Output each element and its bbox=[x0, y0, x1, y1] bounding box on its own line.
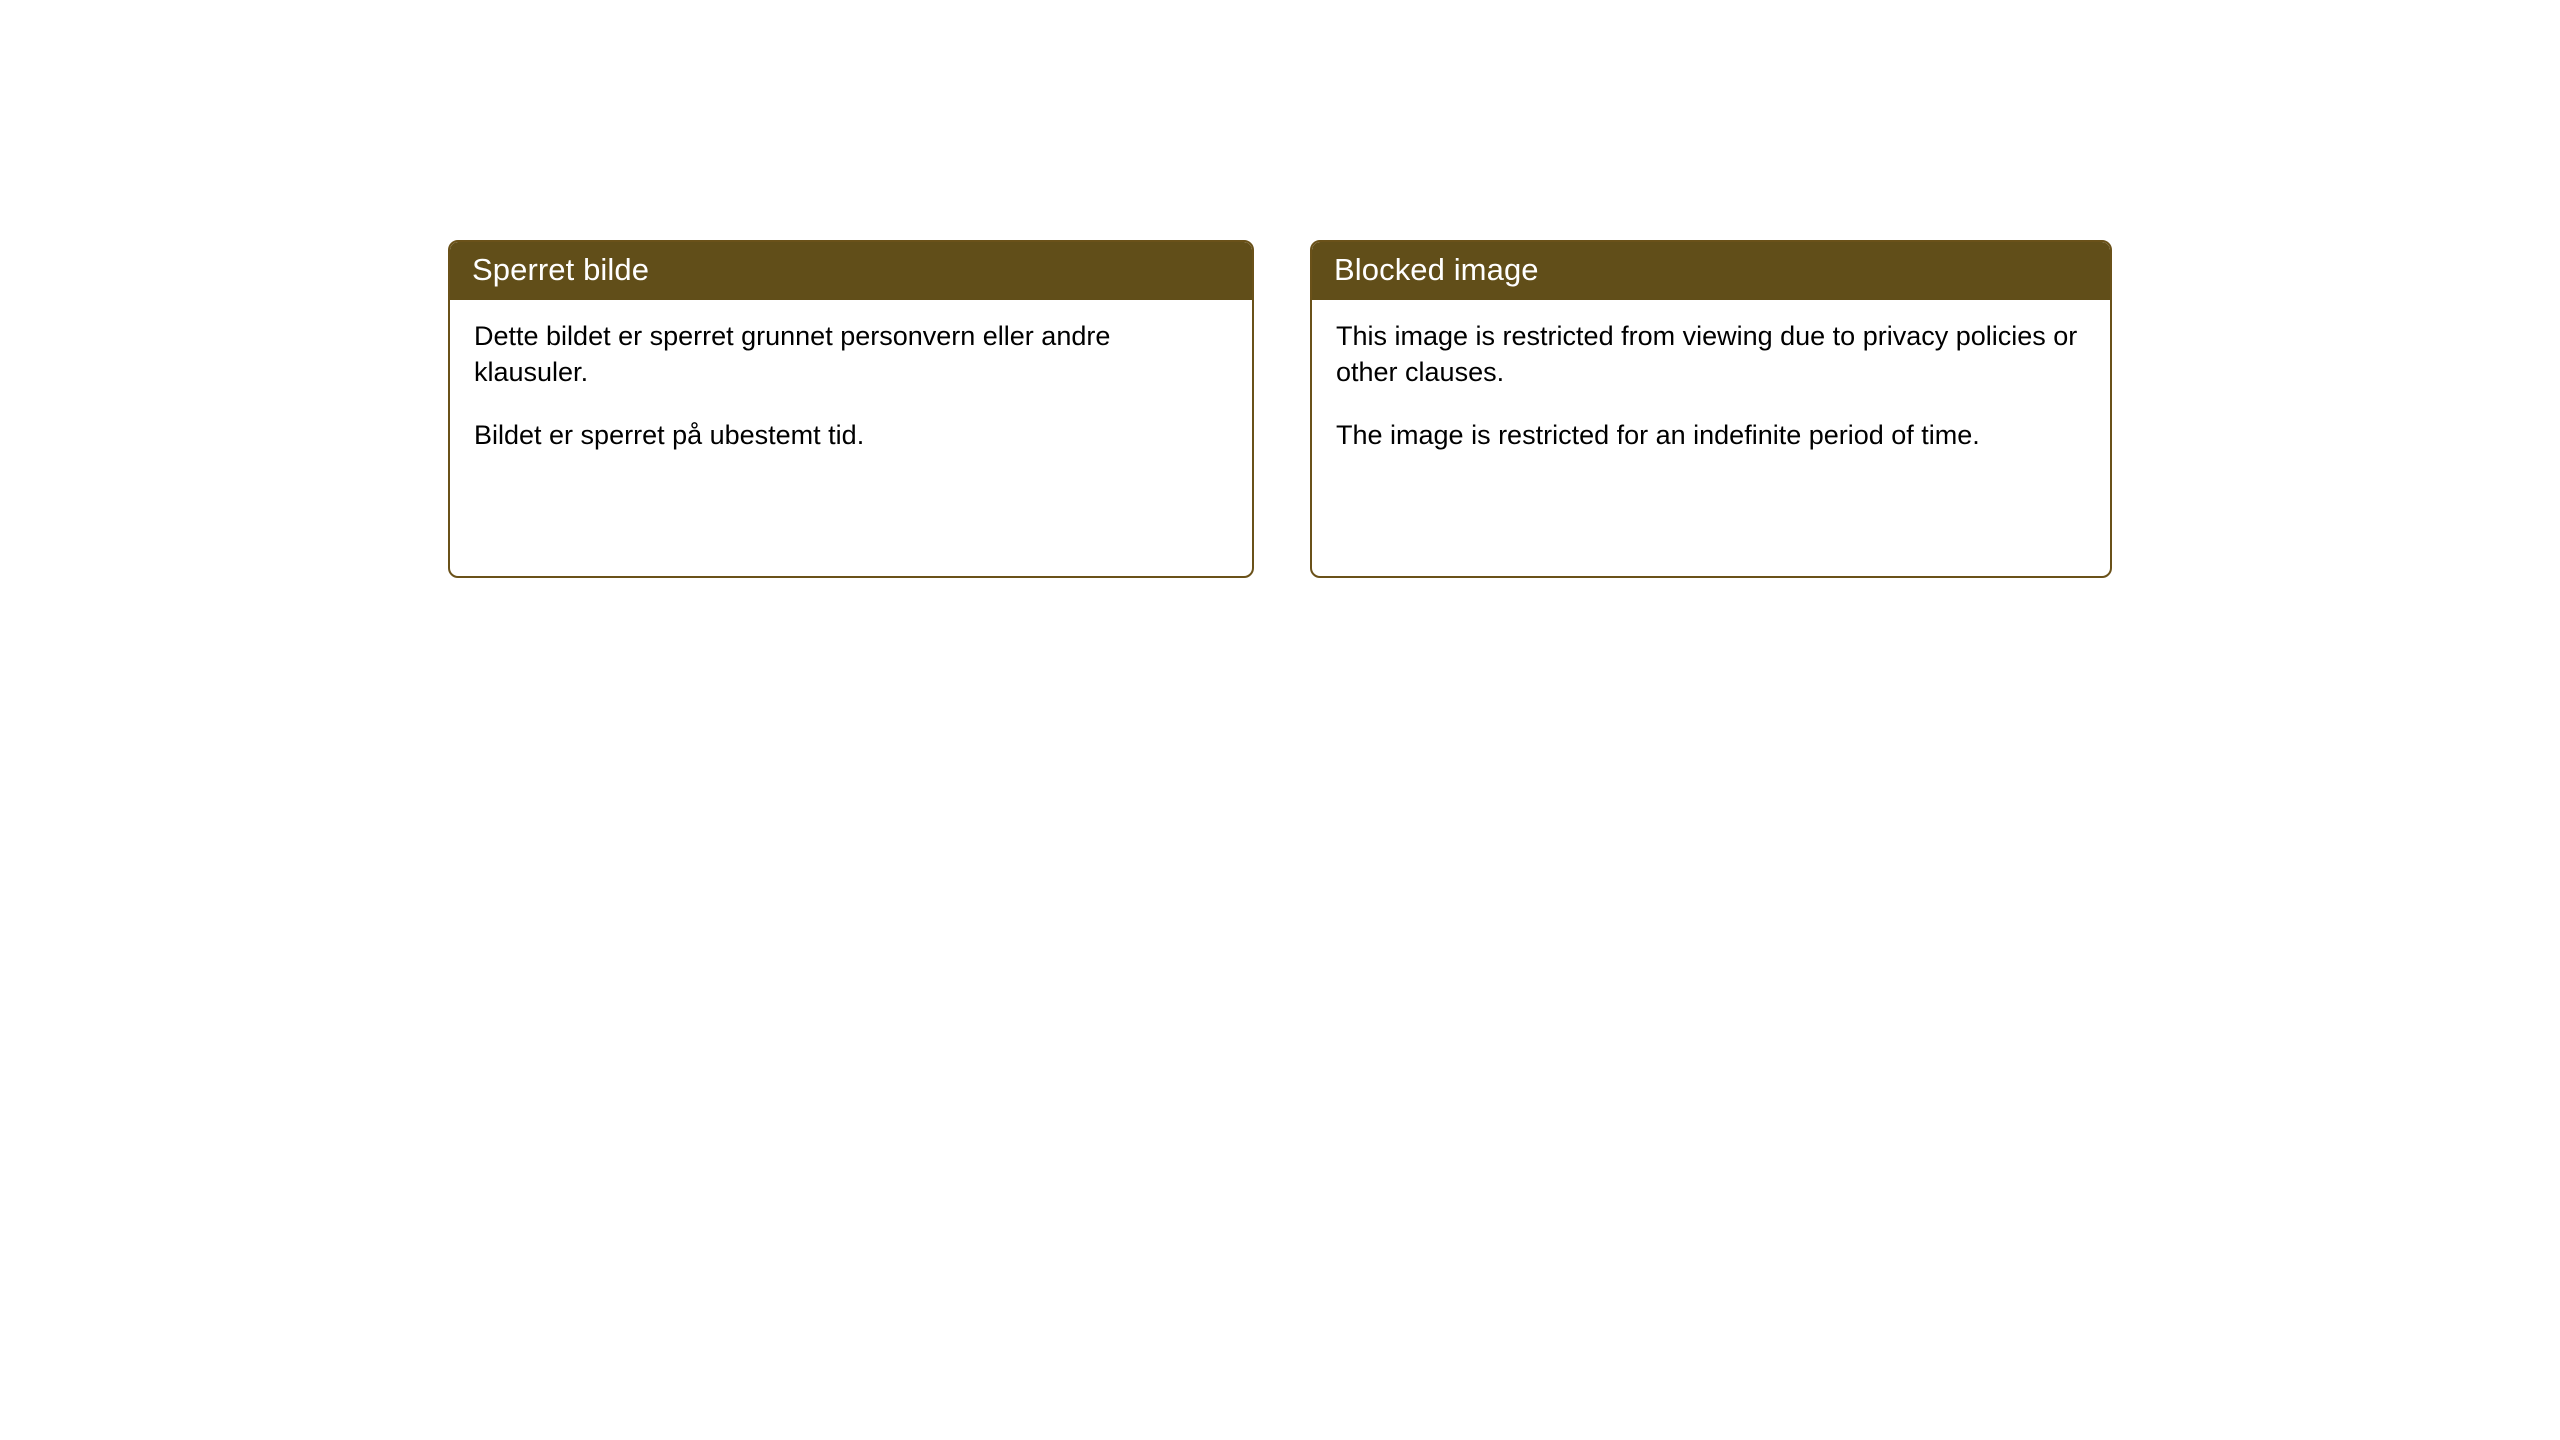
paragraph-spacer-no bbox=[474, 390, 1230, 417]
notice-body-no: Dette bildet er sperret grunnet personve… bbox=[450, 300, 1252, 454]
notice-paragraph-primary-en: This image is restricted from viewing du… bbox=[1336, 318, 2088, 390]
notice-paragraph-secondary-no: Bildet er sperret på ubestemt tid. bbox=[474, 417, 1230, 453]
notice-title-en: Blocked image bbox=[1334, 254, 1539, 288]
notice-header-en: Blocked image bbox=[1312, 242, 2110, 300]
notice-title-no: Sperret bilde bbox=[472, 254, 649, 288]
blocked-image-notice-card-no: Sperret bilde Dette bildet er sperret gr… bbox=[448, 240, 1254, 578]
notice-paragraph-secondary-en: The image is restricted for an indefinit… bbox=[1336, 417, 2088, 453]
notice-paragraph-primary-no: Dette bildet er sperret grunnet personve… bbox=[474, 318, 1230, 390]
notice-body-en: This image is restricted from viewing du… bbox=[1312, 300, 2110, 454]
blocked-image-notice-area: Sperret bilde Dette bildet er sperret gr… bbox=[448, 240, 2112, 580]
paragraph-spacer-en bbox=[1336, 390, 2088, 417]
blocked-image-notice-card-en: Blocked image This image is restricted f… bbox=[1310, 240, 2112, 578]
notice-header-no: Sperret bilde bbox=[450, 242, 1252, 300]
